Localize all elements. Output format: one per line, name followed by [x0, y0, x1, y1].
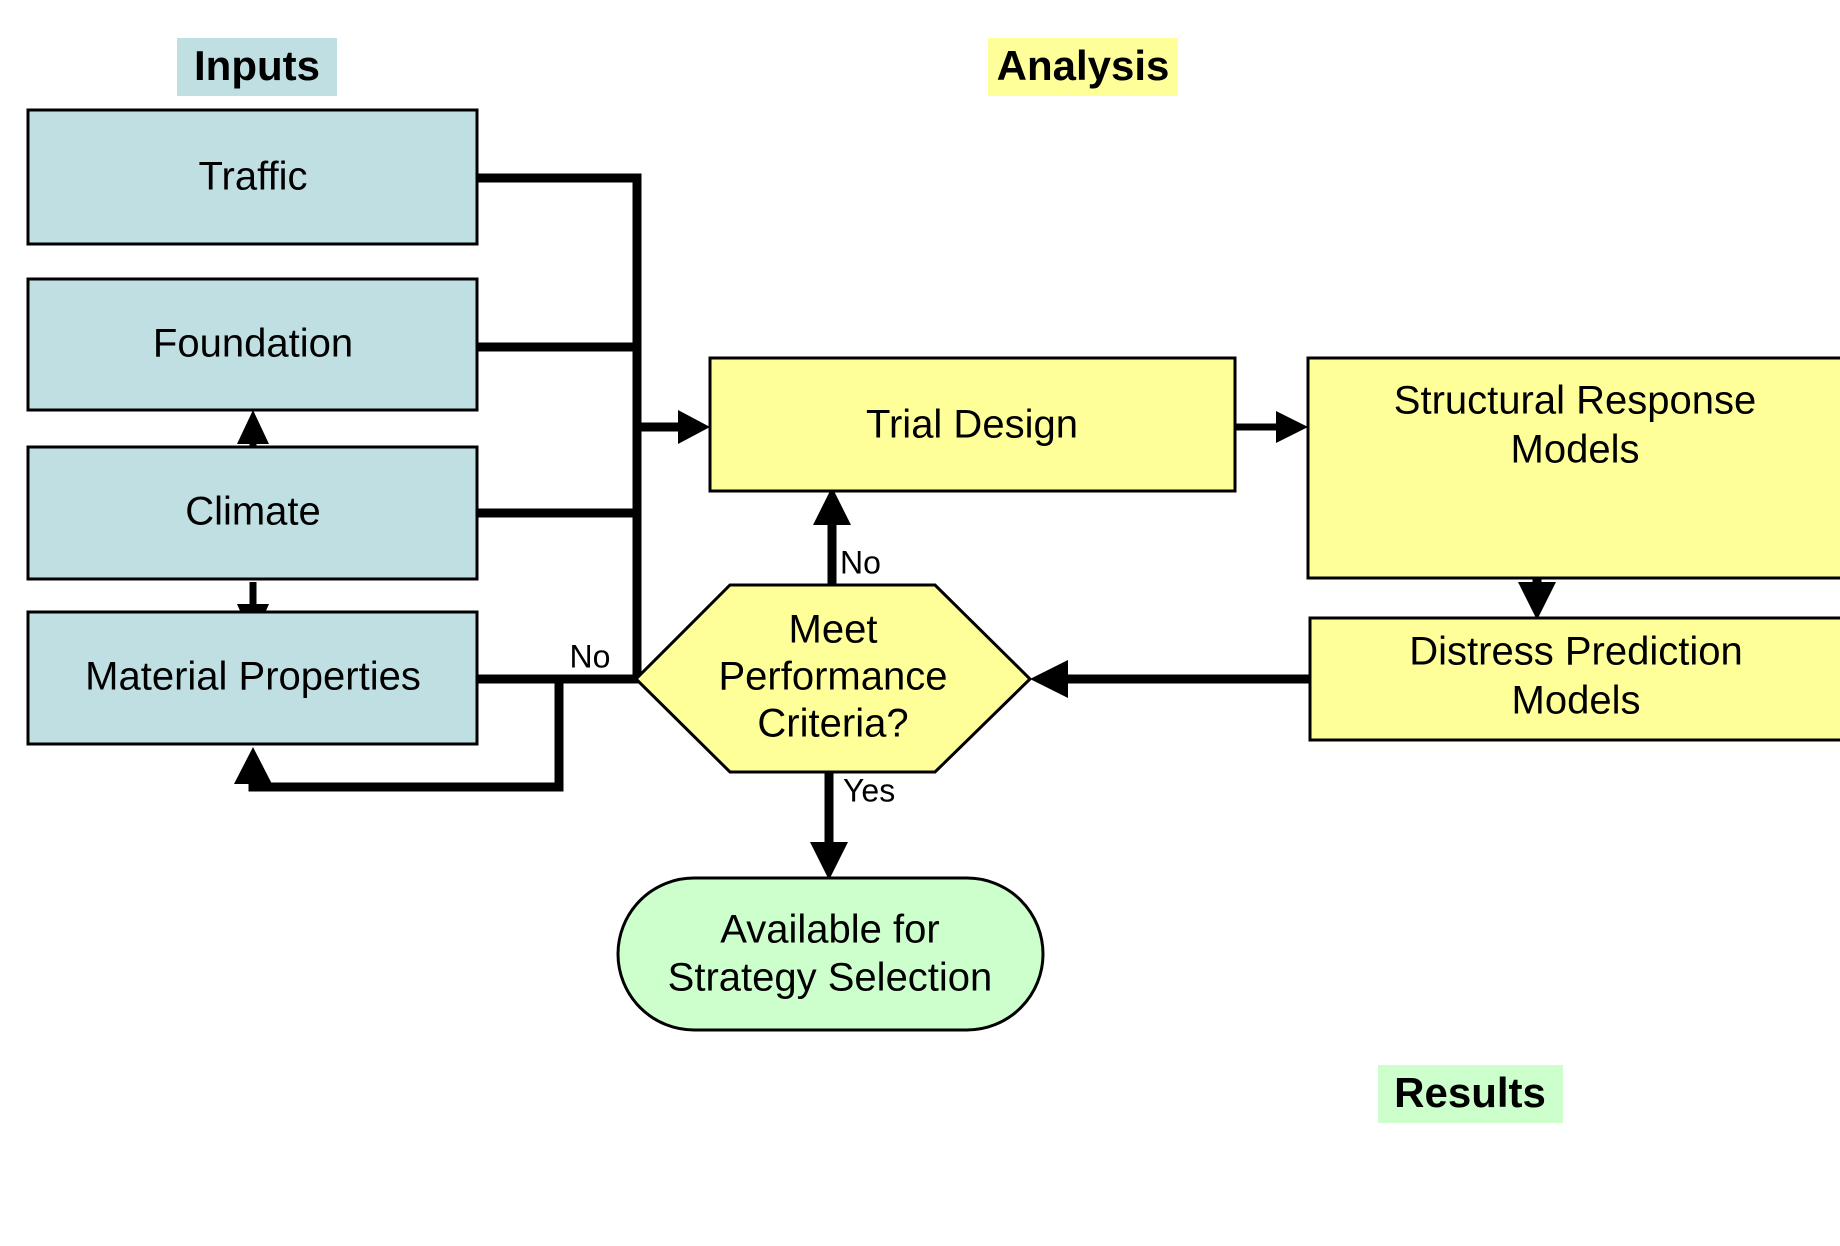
node-foundation[interactable]: Foundation	[28, 279, 477, 410]
node-structural-response-models-label-line2: Models	[1511, 428, 1640, 472]
edge-label-yes-down: Yes	[843, 772, 895, 808]
node-climate-label: Climate	[185, 490, 321, 534]
node-available-for-strategy-selection-shape[interactable]	[618, 878, 1043, 1030]
node-meet-performance-criteria-label-line2: Performance	[719, 655, 948, 699]
section-header-results-label: Results	[1394, 1069, 1546, 1116]
node-meet-performance-criteria-label-line3: Criteria?	[757, 702, 908, 746]
connector-distress-to-hexagon	[1030, 660, 1310, 698]
node-distress-prediction-models[interactable]: Distress Prediction Models	[1310, 618, 1840, 740]
edge-label-no-left: No	[570, 638, 611, 674]
node-meet-performance-criteria-label-line1: Meet	[789, 608, 878, 652]
arrowhead-criteria-yes-to-results	[810, 842, 848, 880]
node-available-for-strategy-selection[interactable]: Available for Strategy Selection	[618, 878, 1043, 1030]
arrowhead-trial-design-to-structural-response	[1276, 411, 1308, 443]
node-climate[interactable]: Climate	[28, 447, 477, 579]
node-trial-design-label: Trial Design	[866, 403, 1078, 447]
section-header-analysis-label: Analysis	[997, 42, 1170, 89]
node-material-properties[interactable]: Material Properties	[28, 612, 477, 744]
arrowhead-bus-to-trial-design	[678, 410, 710, 444]
node-foundation-label: Foundation	[153, 322, 353, 366]
node-traffic[interactable]: Traffic	[28, 110, 477, 244]
section-header-results: Results	[1378, 1065, 1563, 1123]
connector-trial-to-structural	[1235, 411, 1308, 443]
arrowhead-criteria-no-to-trial-design	[813, 487, 851, 525]
connector-structural-to-distress	[1518, 578, 1556, 620]
flowchart-canvas: Inputs Analysis Results	[0, 0, 1840, 1246]
node-meet-performance-criteria[interactable]: Meet Performance Criteria?	[636, 585, 1030, 772]
section-header-inputs-label: Inputs	[194, 42, 320, 89]
arrowhead-distress-prediction-to-criteria	[1030, 660, 1068, 698]
section-header-inputs: Inputs	[177, 38, 337, 96]
edge-label-no-up: No	[840, 544, 881, 580]
node-traffic-label: Traffic	[199, 155, 308, 199]
node-available-for-strategy-selection-label-line2: Strategy Selection	[668, 956, 993, 1000]
node-structural-response-models[interactable]: Structural Response Models	[1308, 358, 1840, 578]
node-distress-prediction-models-label-line1: Distress Prediction	[1409, 630, 1742, 674]
arrowhead-structural-response-to-distress-prediction	[1518, 582, 1556, 620]
node-trial-design[interactable]: Trial Design	[710, 358, 1235, 491]
arrowhead-climate-to-foundation	[237, 410, 269, 444]
connector-traffic-to-bus	[477, 178, 637, 427]
input-bus-connectors	[477, 178, 710, 679]
arrowhead-feedback-to-material-properties	[234, 747, 272, 784]
node-material-properties-label: Material Properties	[85, 655, 421, 699]
section-header-analysis: Analysis	[988, 38, 1178, 96]
node-available-for-strategy-selection-label-line1: Available for	[720, 908, 939, 952]
node-distress-prediction-models-label-line2: Models	[1512, 679, 1641, 723]
node-structural-response-models-label-line1: Structural Response	[1394, 379, 1756, 423]
